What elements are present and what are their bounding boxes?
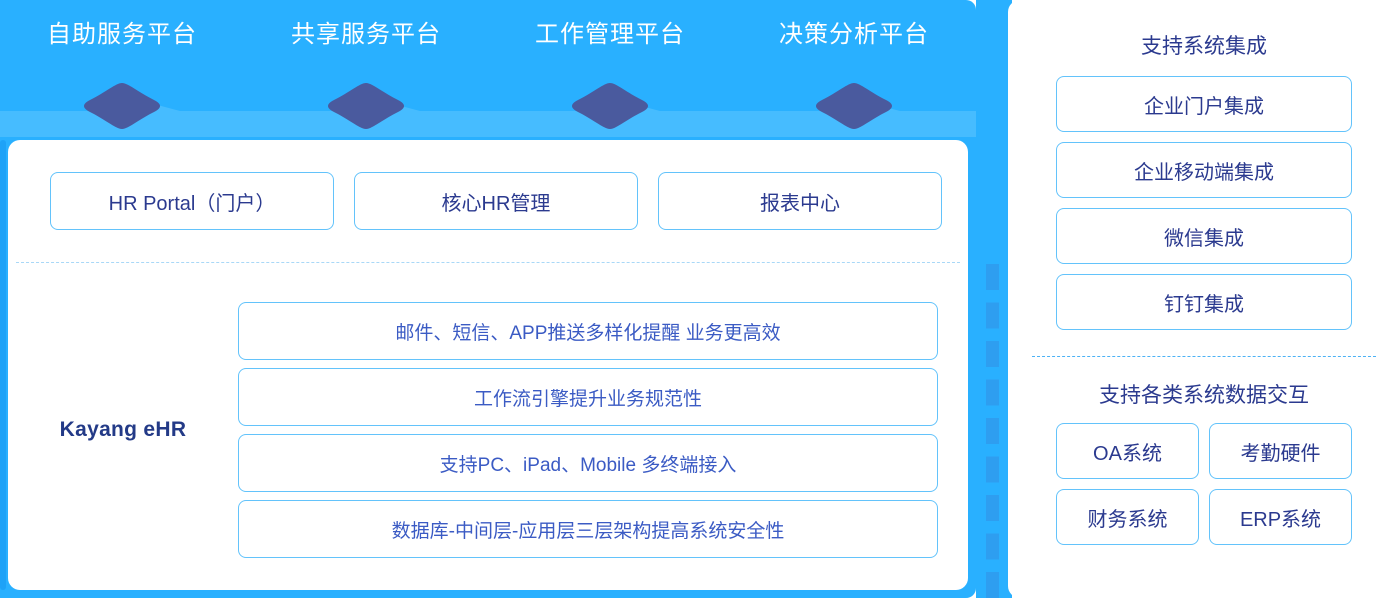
feature-list: 邮件、短信、APP推送多样化提醒 业务更高效 工作流引擎提升业务规范性 支持PC… <box>238 302 938 558</box>
left-platform-block: 自助服务平台 共享服务平台 工作管理平台 决策分析平台 HR Portal（门户… <box>0 0 976 598</box>
feature-box-workflow-engine[interactable]: 工作流引擎提升业务规范性 <box>238 368 938 426</box>
integration-box-enterprise-mobile[interactable]: 企业移动端集成 <box>1056 142 1352 198</box>
platform-label-self-service[interactable]: 自助服务平台 <box>0 0 244 70</box>
integration-box-enterprise-portal[interactable]: 企业门户集成 <box>1056 76 1352 132</box>
right-integration-panel: 支持系统集成 企业门户集成 企业移动端集成 微信集成 钉钉集成 支持各类系统数据… <box>1008 0 1400 598</box>
integration-box-dingtalk[interactable]: 钉钉集成 <box>1056 274 1352 330</box>
system-box-attendance-hardware[interactable]: 考勤硬件 <box>1209 423 1352 479</box>
brand-label: Kayang eHR <box>8 418 238 442</box>
system-box-finance[interactable]: 财务系统 <box>1056 489 1199 545</box>
system-box-erp[interactable]: ERP系统 <box>1209 489 1352 545</box>
system-box-oa[interactable]: OA系统 <box>1056 423 1199 479</box>
data-exchange-panel-title: 支持各类系统数据交互 <box>1008 379 1400 409</box>
systems-grid: OA系统 考勤硬件 财务系统 ERP系统 <box>1056 423 1352 545</box>
integration-box-wechat[interactable]: 微信集成 <box>1056 208 1352 264</box>
panel-dashed-divider <box>1032 356 1376 357</box>
architecture-diagram: 自助服务平台 共享服务平台 工作管理平台 决策分析平台 HR Portal（门户… <box>0 0 1400 598</box>
left-accent-bar <box>0 140 6 590</box>
portal-box-hr-portal[interactable]: HR Portal（门户） <box>50 172 334 230</box>
integration-panel-title: 支持系统集成 <box>1008 30 1400 60</box>
ehr-main-card: HR Portal（门户） 核心HR管理 报表中心 Kayang eHR 邮件、… <box>8 140 968 590</box>
feature-box-notifications[interactable]: 邮件、短信、APP推送多样化提醒 业务更高效 <box>238 302 938 360</box>
wave-band-decoration <box>0 101 976 137</box>
platform-label-work-management[interactable]: 工作管理平台 <box>488 0 732 70</box>
portal-box-core-hr[interactable]: 核心HR管理 <box>354 172 638 230</box>
portal-row: HR Portal（门户） 核心HR管理 报表中心 <box>50 172 942 230</box>
feature-box-three-tier-architecture[interactable]: 数据库-中间层-应用层三层架构提高系统安全性 <box>238 500 938 558</box>
portal-box-report-center[interactable]: 报表中心 <box>658 172 942 230</box>
vertical-dashed-connector <box>986 264 999 598</box>
card-dashed-divider <box>16 262 960 263</box>
features-zone: Kayang eHR 邮件、短信、APP推送多样化提醒 业务更高效 工作流引擎提… <box>8 280 968 580</box>
platform-label-row: 自助服务平台 共享服务平台 工作管理平台 决策分析平台 <box>0 0 976 70</box>
platform-label-decision-analysis[interactable]: 决策分析平台 <box>732 0 976 70</box>
feature-box-multi-terminal[interactable]: 支持PC、iPad、Mobile 多终端接入 <box>238 434 938 492</box>
integration-list: 企业门户集成 企业移动端集成 微信集成 钉钉集成 <box>1056 76 1352 330</box>
platform-label-shared-service[interactable]: 共享服务平台 <box>244 0 488 70</box>
